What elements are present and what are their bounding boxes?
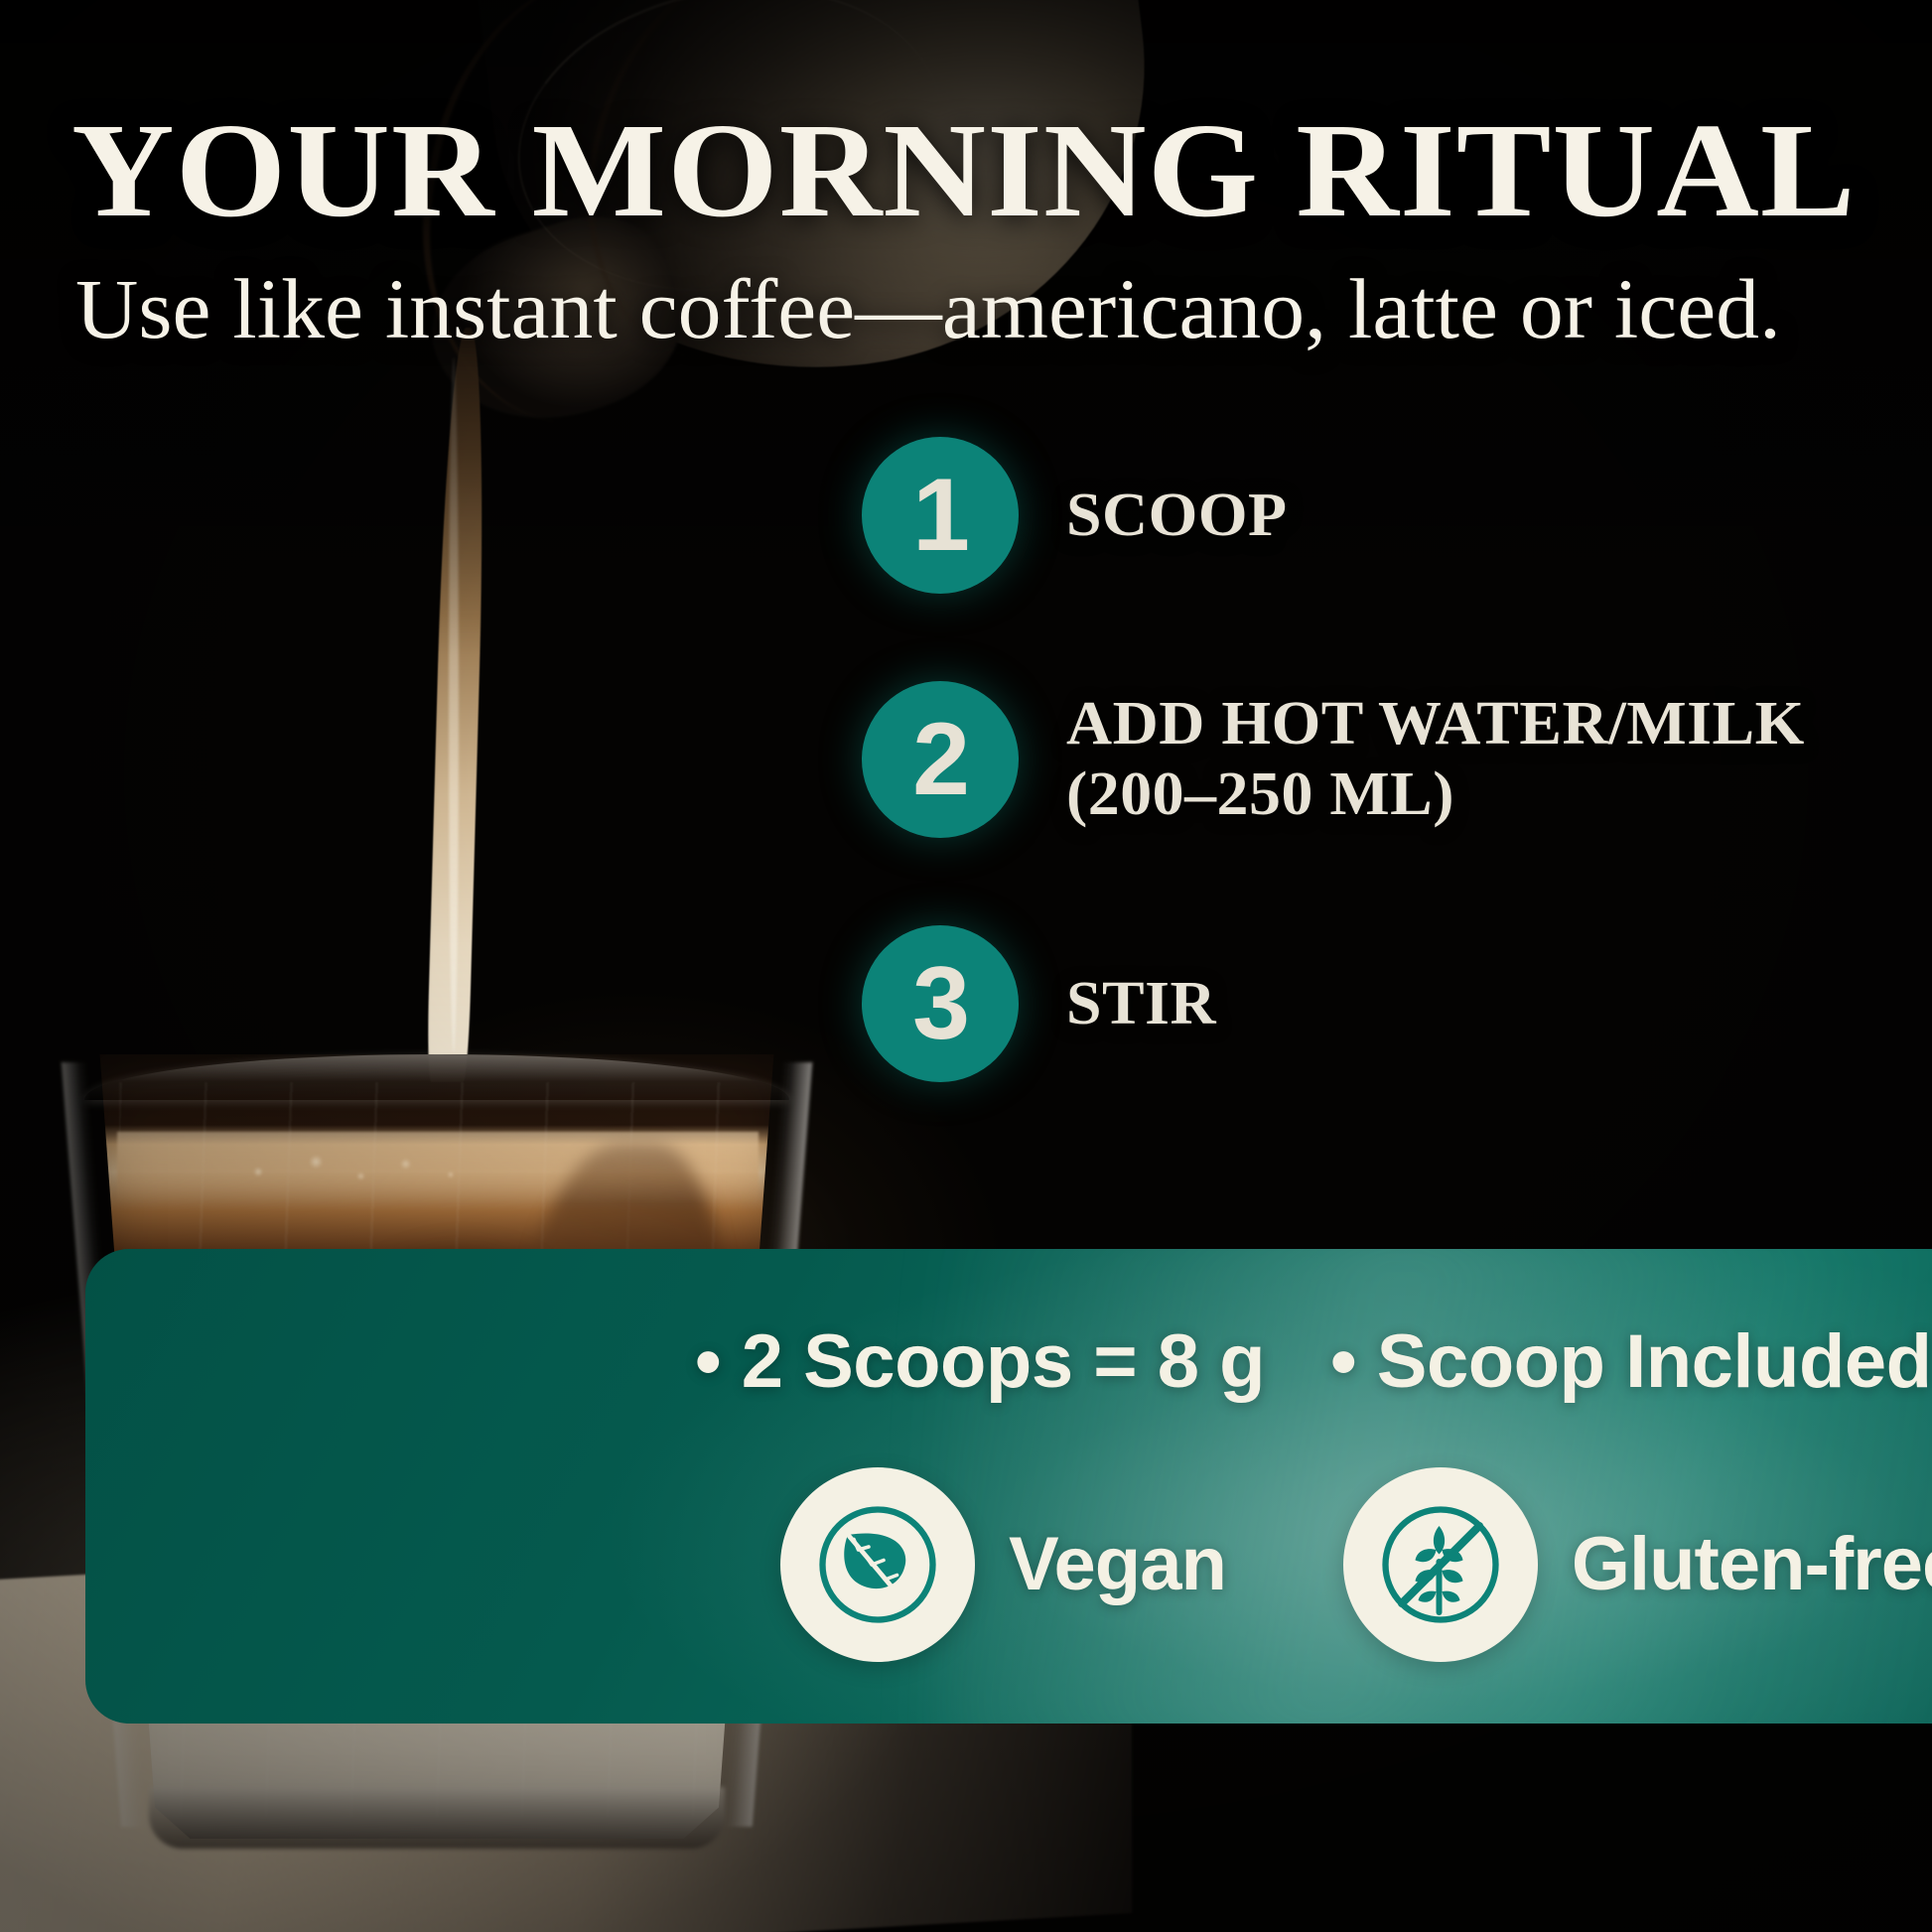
leaf-icon <box>803 1490 952 1639</box>
step-item-1: 1 SCOOP <box>862 437 1932 594</box>
banner-bullets: • 2 Scoops = 8 g • Scoop Included <box>695 1324 1932 1400</box>
vegan-badge-label: Vegan <box>1009 1527 1226 1602</box>
steps-list: 1 SCOOP 2 ADD HOT WATER/MILK(200–250 ML)… <box>862 437 1932 1170</box>
pouring-stream-highlight <box>449 357 459 1052</box>
page-title: YOUR MORNING RITUAL <box>71 103 1932 238</box>
bullet-scoops-weight: • 2 Scoops = 8 g <box>695 1324 1265 1400</box>
badge-gluten-free: Gluten-free <box>1343 1467 1932 1662</box>
step-number-badge-1: 1 <box>862 437 1019 594</box>
step-item-3: 3 STIR <box>862 925 1932 1082</box>
step-item-2: 2 ADD HOT WATER/MILK(200–250 ML) <box>862 681 1932 838</box>
step-number-badge-2: 2 <box>862 681 1019 838</box>
step-number-1: 1 <box>912 464 968 567</box>
bullet-scoop-included: • Scoop Included <box>1330 1324 1932 1400</box>
step-label-3: STIR <box>1066 969 1216 1039</box>
crema-foam <box>117 1132 759 1203</box>
glass-base <box>149 1787 725 1849</box>
vegan-badge-disc <box>780 1467 975 1662</box>
step-number-3: 3 <box>912 952 968 1055</box>
badge-vegan: Vegan <box>780 1467 1226 1662</box>
step-number-badge-3: 3 <box>862 925 1019 1082</box>
step-label-2: ADD HOT WATER/MILK(200–250 ML) <box>1066 689 1805 829</box>
gluten-free-badge-disc <box>1343 1467 1538 1662</box>
promo-graphic: YOUR MORNING RITUAL Use like instant cof… <box>0 0 1932 1932</box>
wheat-slash-icon <box>1366 1490 1515 1639</box>
page-subtitle: Use like instant coffee—americano, latte… <box>75 266 1918 351</box>
badge-row: Vegan <box>780 1467 1932 1662</box>
step-number-2: 2 <box>912 708 968 811</box>
step-label-1: SCOOP <box>1066 481 1288 551</box>
gluten-free-badge-label: Gluten-free <box>1572 1527 1932 1602</box>
